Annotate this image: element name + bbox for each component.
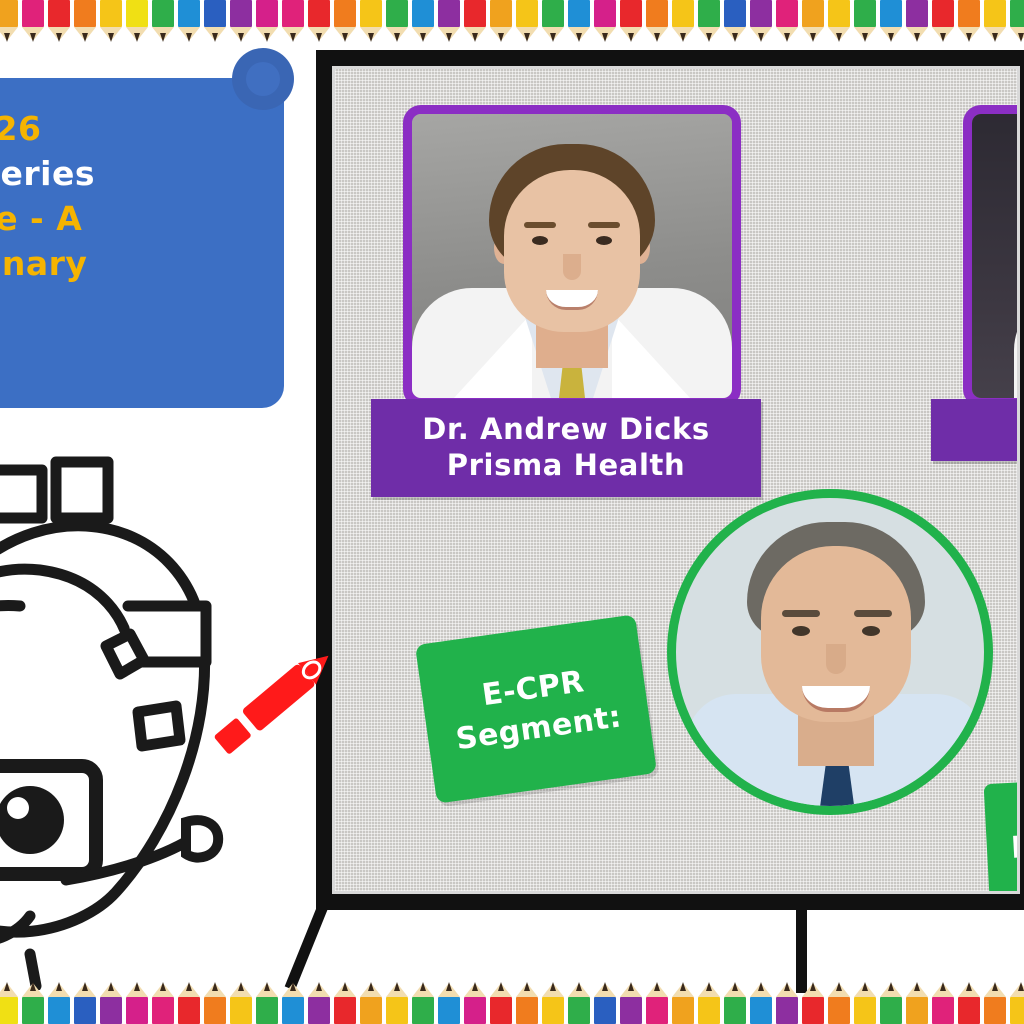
pencil-icon: [72, 0, 98, 44]
title-line-4: ulmonary: [0, 241, 266, 286]
title-line-5: lism: [0, 286, 266, 331]
pencil-icon: [956, 980, 982, 1024]
easel-leg-left: [285, 903, 329, 991]
pencil-icon: [306, 0, 332, 44]
pencil-icon: [592, 0, 618, 44]
pencil-icon: [930, 0, 956, 44]
pencil-icon: [358, 0, 384, 44]
pencil-icon: [566, 0, 592, 44]
nameplate-andrew-dicks: Dr. Andrew Dicks Prisma Health: [371, 399, 761, 497]
pencil-icon: [254, 0, 280, 44]
pencil-icon: [98, 0, 124, 44]
pencil-icon: [618, 0, 644, 44]
title-line-3: Grace - A: [0, 196, 266, 241]
nameplate-name-right: Dr. T: [957, 411, 1020, 447]
segment-card-right: D: [984, 778, 1020, 894]
pencil-icon: [774, 980, 800, 1024]
pencil-icon: [982, 980, 1008, 1024]
episode-title-card: e #226 ort Series Grace - A ulmonary lis…: [0, 78, 284, 408]
pencil-icon: [644, 980, 670, 1024]
pencil-icon: [878, 0, 904, 44]
pencil-icon: [332, 0, 358, 44]
nameplate-second-guest: Dr. T: [931, 399, 1020, 461]
pencil-icon: [540, 980, 566, 1024]
pencil-icon: [670, 0, 696, 44]
pencil-icon: [800, 0, 826, 44]
pencil-icon: [566, 980, 592, 1024]
pencil-icon: [176, 0, 202, 44]
pencil-icon: [332, 980, 358, 1024]
title-badge-circle: [232, 48, 294, 110]
pencil-icon: [904, 980, 930, 1024]
pencil-icon: [644, 0, 670, 44]
pencil-icon: [1008, 980, 1024, 1024]
pencil-icon: [124, 980, 150, 1024]
pencil-icon: [436, 0, 462, 44]
pencil-icon: [228, 980, 254, 1024]
pencil-icon: [280, 0, 306, 44]
pencil-icon: [982, 0, 1008, 44]
pencil-icon: [462, 0, 488, 44]
pencil-icon: [722, 0, 748, 44]
pencil-icon: [176, 980, 202, 1024]
pencil-icon: [826, 0, 852, 44]
pencil-icon: [514, 0, 540, 44]
portrait-image-ecpr-guest: [676, 498, 984, 806]
e-cpr-segment-card: E-CPR Segment:: [415, 614, 657, 803]
pencil-icon: [930, 980, 956, 1024]
title-line-1: e #226: [0, 106, 266, 151]
pencil-icon: [774, 0, 800, 44]
pencil-icon: [410, 0, 436, 44]
portrait-second-guest: [963, 105, 1020, 407]
pencil-icon: [462, 980, 488, 1024]
pencil-icon: [904, 0, 930, 44]
pencil-icon: [150, 0, 176, 44]
pencil-icon: [696, 980, 722, 1024]
pencil-icon: [956, 0, 982, 44]
pencil-icon: [826, 980, 852, 1024]
red-pointer-marker: [196, 648, 346, 760]
pencil-icon: [384, 980, 410, 1024]
pencil-icon: [670, 980, 696, 1024]
pencil-icon: [696, 0, 722, 44]
pencil-icon: [228, 0, 254, 44]
pencil-icon: [202, 0, 228, 44]
portrait-image-second-guest: [972, 114, 1020, 398]
pencil-icon: [852, 980, 878, 1024]
pencil-icon: [748, 0, 774, 44]
pencil-icon: [124, 0, 150, 44]
easel-display-screen: Dr. Andrew Dicks Prisma Health Dr. T E-C…: [316, 50, 1024, 910]
pencil-icon: [878, 980, 904, 1024]
pencil-icon: [280, 980, 306, 1024]
pencil-icon: [254, 980, 280, 1024]
pencil-icon: [306, 980, 332, 1024]
pencil-icon: [20, 980, 46, 1024]
pencil-icon: [150, 980, 176, 1024]
segment-card-right-text: D: [1010, 830, 1020, 866]
pencil-icon: [722, 980, 748, 1024]
portrait-andrew-dicks: [403, 105, 741, 407]
nameplate-affiliation: Prisma Health: [397, 447, 735, 483]
pencil-icon: [0, 0, 20, 44]
pencil-icon: [436, 980, 462, 1024]
title-line-2: ort Series: [0, 151, 266, 196]
pencil-icon: [1008, 0, 1024, 44]
pencil-icon: [410, 980, 436, 1024]
pencil-icon: [46, 980, 72, 1024]
pencil-icon: [618, 980, 644, 1024]
pencil-icon: [46, 0, 72, 44]
pencil-icon: [514, 980, 540, 1024]
nameplate-name: Dr. Andrew Dicks: [397, 411, 735, 447]
pencil-icon: [384, 0, 410, 44]
pencil-icon: [748, 980, 774, 1024]
screen-surface: Dr. Andrew Dicks Prisma Health Dr. T E-C…: [332, 66, 1020, 894]
portrait-image-andrew: [412, 114, 732, 398]
pencil-icon: [540, 0, 566, 44]
pencil-icon: [852, 0, 878, 44]
pencil-icon: [202, 980, 228, 1024]
pencil-icon: [98, 980, 124, 1024]
pencil-icon: [358, 980, 384, 1024]
thumbnail-canvas: Dr. Andrew Dicks Prisma Health Dr. T E-C…: [0, 0, 1024, 1024]
pencil-border-top: [0, 0, 1024, 44]
pencil-icon: [488, 0, 514, 44]
portrait-ecpr-guest: [667, 489, 993, 815]
pencil-border-bottom: [0, 980, 1024, 1024]
pencil-icon: [0, 980, 20, 1024]
pencil-icon: [488, 980, 514, 1024]
pencil-icon: [20, 0, 46, 44]
pencil-icon: [592, 980, 618, 1024]
title-line-6: &H: [0, 331, 266, 376]
pencil-icon: [72, 980, 98, 1024]
pencil-icon: [800, 980, 826, 1024]
